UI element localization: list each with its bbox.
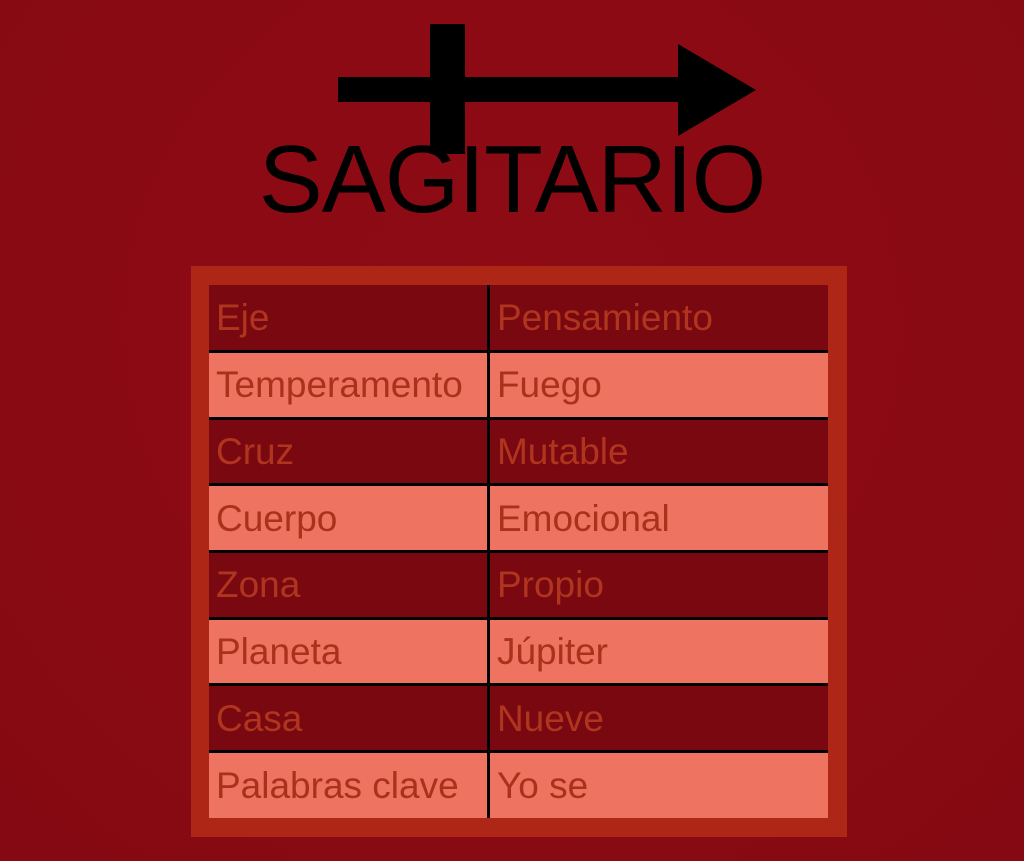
attribute-key: Temperamento bbox=[209, 352, 488, 419]
page-title: SAGITARIO bbox=[0, 132, 1024, 228]
table-row: Zona Propio bbox=[209, 552, 828, 619]
table-row: Temperamento Fuego bbox=[209, 352, 828, 419]
attribute-key: Eje bbox=[209, 285, 488, 352]
attribute-key: Palabras clave bbox=[209, 751, 488, 818]
attribute-value: Júpiter bbox=[488, 618, 828, 685]
attribute-key: Casa bbox=[209, 685, 488, 752]
attribute-value: Emocional bbox=[488, 485, 828, 552]
attribute-key: Zona bbox=[209, 552, 488, 619]
attribute-value: Mutable bbox=[488, 418, 828, 485]
attributes-table-body: Eje Pensamiento Temperamento Fuego Cruz … bbox=[209, 285, 828, 818]
table-row: Planeta Júpiter bbox=[209, 618, 828, 685]
attribute-value: Pensamiento bbox=[488, 285, 828, 352]
attribute-value: Nueve bbox=[488, 685, 828, 752]
attribute-key: Planeta bbox=[209, 618, 488, 685]
attribute-value: Propio bbox=[488, 552, 828, 619]
table-row: Cuerpo Emocional bbox=[209, 485, 828, 552]
sagittarius-info-card: SAGITARIO Eje Pensamiento Temperamento F… bbox=[0, 0, 1024, 861]
attribute-key: Cuerpo bbox=[209, 485, 488, 552]
attribute-value: Yo se bbox=[488, 751, 828, 818]
table-row: Palabras clave Yo se bbox=[209, 751, 828, 818]
attribute-key: Cruz bbox=[209, 418, 488, 485]
table-row: Casa Nueve bbox=[209, 685, 828, 752]
table-row: Cruz Mutable bbox=[209, 418, 828, 485]
attributes-table-frame: Eje Pensamiento Temperamento Fuego Cruz … bbox=[191, 266, 847, 837]
table-row: Eje Pensamiento bbox=[209, 285, 828, 352]
attribute-value: Fuego bbox=[488, 352, 828, 419]
attributes-table: Eje Pensamiento Temperamento Fuego Cruz … bbox=[209, 285, 828, 818]
